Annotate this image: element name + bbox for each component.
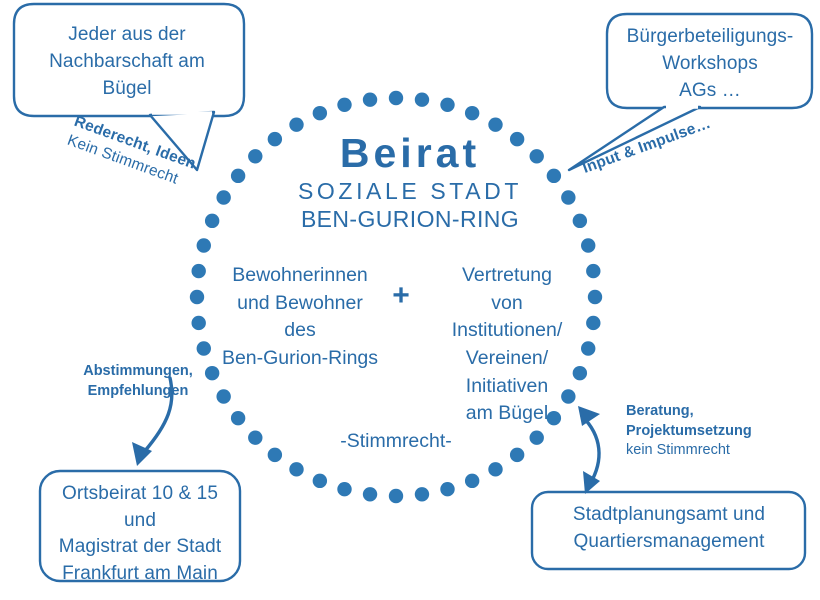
group-institutions-line-4: Vereinen/ <box>424 345 590 373</box>
ring-dot <box>389 91 403 105</box>
box-bottom-left-line-2: und <box>42 508 238 535</box>
group-institutions-line-3: Institutionen/ <box>424 317 590 345</box>
group-residents-line-3: des <box>205 317 395 345</box>
group-institutions-line-1: Vertretung <box>424 262 590 290</box>
annotation-bottom-left: Abstimmungen, Empfehlungen <box>48 362 228 401</box>
bubble-top-right-text: Bürgerbeteiligungs- Workshops AGs … <box>608 24 812 105</box>
ring-dot <box>488 462 502 476</box>
ring-dot <box>190 290 204 304</box>
ring-dot <box>440 482 454 496</box>
bubble-top-left-line-1: Jeder aus der <box>22 22 232 49</box>
group-institutions-line-6: am Bügel <box>424 400 590 428</box>
ring-dot <box>313 474 327 488</box>
ring-dot <box>465 474 479 488</box>
group-institutions-line-2: von <box>424 290 590 318</box>
box-bottom-right-text: Stadtplanungsamt und Quartiersmanagement <box>534 502 804 555</box>
box-bottom-right-line-1: Stadtplanungsamt und <box>534 502 804 529</box>
title-subtitle-2: BEN-GURION-RING <box>0 205 820 233</box>
plus-icon: + <box>386 278 416 315</box>
title-subtitle-1: SOZIALE STADT <box>0 177 820 205</box>
box-bottom-left-line-3: Magistrat der Stadt <box>42 534 238 561</box>
bubble-top-left-line-2: Nachbarschaft am <box>22 49 232 76</box>
box-bottom-right-line-2: Quartiersmanagement <box>534 529 804 556</box>
bubble-top-right-line-1: Bürgerbeteiligungs- <box>608 24 812 51</box>
group-residents: Bewohnerinnen und Bewohner des Ben-Gurio… <box>205 262 395 373</box>
diagram-canvas: Jeder aus der Nachbarschaft am Bügel Bür… <box>0 0 820 600</box>
group-institutions-line-5: Initiativen <box>424 373 590 401</box>
box-bottom-left-line-1: Ortsbeirat 10 & 15 <box>42 481 238 508</box>
group-institutions: Vertretung von Institutionen/ Vereinen/ … <box>424 262 590 428</box>
ring-dot <box>510 448 524 462</box>
box-bottom-left-line-4: Frankfurt am Main <box>42 561 238 588</box>
ring-dot <box>231 411 245 425</box>
ring-dot <box>337 98 351 112</box>
bubble-top-right-line-2: Workshops <box>608 51 812 78</box>
ring-dot <box>192 264 206 278</box>
ring-dot <box>192 316 206 330</box>
bubble-top-left-line-3: Bügel <box>22 76 232 103</box>
ring-dot <box>581 238 595 252</box>
voting-rights-note: -Stimmrecht- <box>296 430 496 454</box>
ring-dot <box>337 482 351 496</box>
annotation-bottom-right-line-1: Beratung, <box>626 402 820 422</box>
ring-dot <box>363 93 377 107</box>
ring-dot <box>363 487 377 501</box>
box-bottom-left-text: Ortsbeirat 10 & 15 und Magistrat der Sta… <box>42 481 238 587</box>
bubble-top-left-text: Jeder aus der Nachbarschaft am Bügel <box>22 22 232 103</box>
ring-dot <box>530 431 544 445</box>
ring-dot <box>248 431 262 445</box>
ring-dot <box>197 238 211 252</box>
annotation-bottom-right: Beratung, Projektumsetzung kein Stimmrec… <box>626 402 820 461</box>
ring-dot <box>389 489 403 503</box>
ring-dot <box>415 487 429 501</box>
ring-dot <box>289 462 303 476</box>
group-residents-line-4: Ben-Gurion-Rings <box>205 345 395 373</box>
ring-dot <box>313 106 327 120</box>
ring-dot <box>465 106 479 120</box>
ring-dot <box>415 93 429 107</box>
bubble-top-right-line-3: AGs … <box>608 78 812 105</box>
group-residents-line-2: und Bewohner <box>205 290 395 318</box>
annotation-bottom-right-line-2: Projektumsetzung <box>626 422 820 442</box>
ring-dot <box>440 98 454 112</box>
ring-dot <box>268 448 282 462</box>
group-residents-line-1: Bewohnerinnen <box>205 262 395 290</box>
annotation-bottom-right-regular: kein Stimmrecht <box>626 441 820 461</box>
